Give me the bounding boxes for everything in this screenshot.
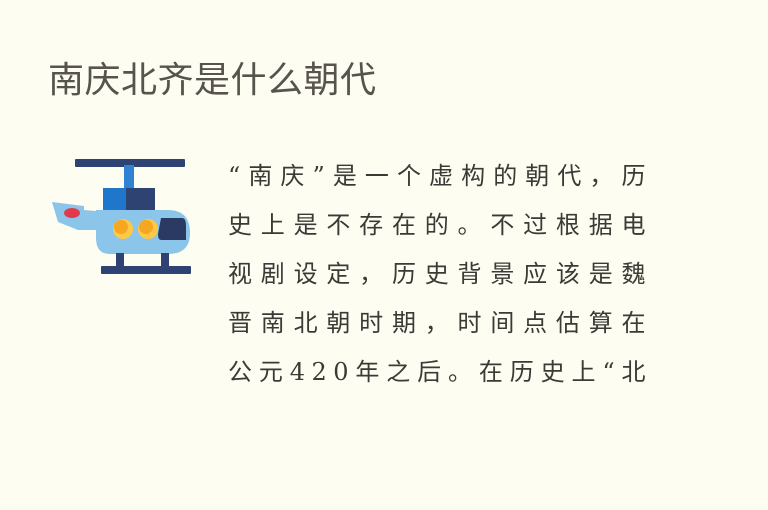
cockpit-window xyxy=(158,218,186,240)
cabin-window-left-inner xyxy=(114,220,128,234)
landing-strut-right xyxy=(161,253,169,267)
helicopter-illustration xyxy=(48,150,208,280)
landing-strut-left xyxy=(116,253,124,267)
page-title: 南庆北齐是什么朝代 xyxy=(48,58,377,102)
cabin-window-right-inner xyxy=(139,220,153,234)
engine-housing-right xyxy=(126,188,155,210)
tail-light xyxy=(64,208,80,218)
article-body-text: “南庆”是一个虚构的朝代，历史上是不存在的。不过根据电视剧设定，历史背景应该是魏… xyxy=(228,152,652,402)
page-root: 南庆北齐是什么朝代 xyxy=(0,0,768,510)
landing-skid xyxy=(101,266,191,274)
helicopter-icon xyxy=(48,150,208,280)
